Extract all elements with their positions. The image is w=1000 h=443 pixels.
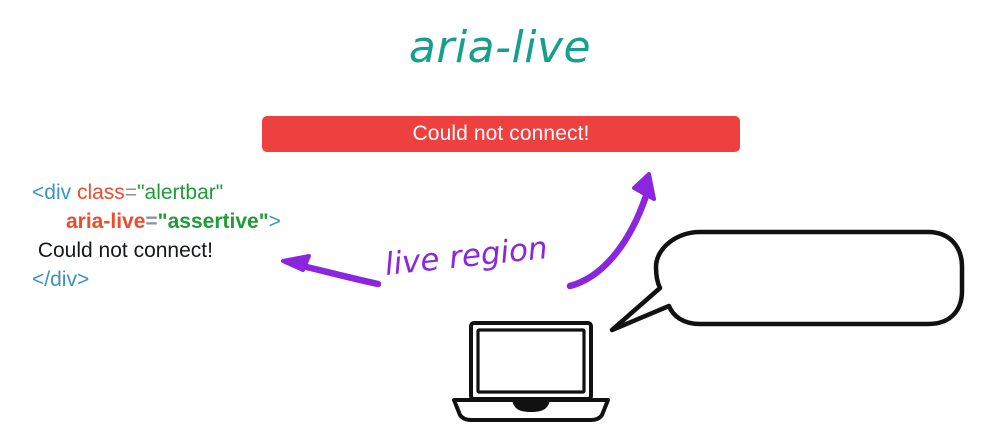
code-token-attr: aria-live — [66, 210, 145, 233]
laptop-illustration — [454, 323, 608, 420]
code-snippet: <div class="alertbar"aria-live="assertiv… — [32, 178, 281, 294]
laptop-lid — [471, 323, 591, 399]
code-token-attr: class — [77, 181, 125, 204]
arrow-left-to-code-icon — [283, 256, 378, 284]
alert-bar: Could not connect! — [262, 116, 740, 152]
open-quote-glyph: “ — [683, 259, 696, 288]
code-token-tag: </div> — [32, 268, 89, 291]
code-token-eq: = — [145, 210, 157, 233]
code-token-text: Could not connect! — [32, 239, 213, 262]
close-quote-glyph: ” — [915, 259, 928, 288]
page-title: aria-live — [0, 22, 1000, 73]
laptop-screen — [478, 330, 584, 392]
illustration-canvas: aria-live Could not connect! <div class=… — [0, 0, 1000, 443]
live-region-annotation-label: live region — [383, 230, 549, 283]
speech-bubble-text: “Could not connect!” — [683, 259, 933, 290]
laptop-notch — [512, 400, 550, 412]
code-line-0: <div class="alertbar" — [32, 178, 281, 207]
arrow-up-to-alertbar-icon — [570, 174, 654, 286]
code-token-tag: > — [269, 210, 281, 233]
speech-bubble-phrase: Could not connect! — [696, 264, 915, 290]
code-line-2: Could not connect! — [32, 236, 281, 265]
code-line-1: aria-live="assertive"> — [32, 207, 281, 236]
code-token-eq: = — [125, 181, 137, 204]
code-token-tag: <div — [32, 181, 77, 204]
laptop-base — [454, 400, 608, 420]
code-token-value: "alertbar" — [137, 181, 223, 204]
code-line-3: </div> — [32, 265, 281, 294]
code-token-value: "assertive" — [158, 210, 269, 233]
alert-bar-message: Could not connect! — [413, 122, 590, 146]
